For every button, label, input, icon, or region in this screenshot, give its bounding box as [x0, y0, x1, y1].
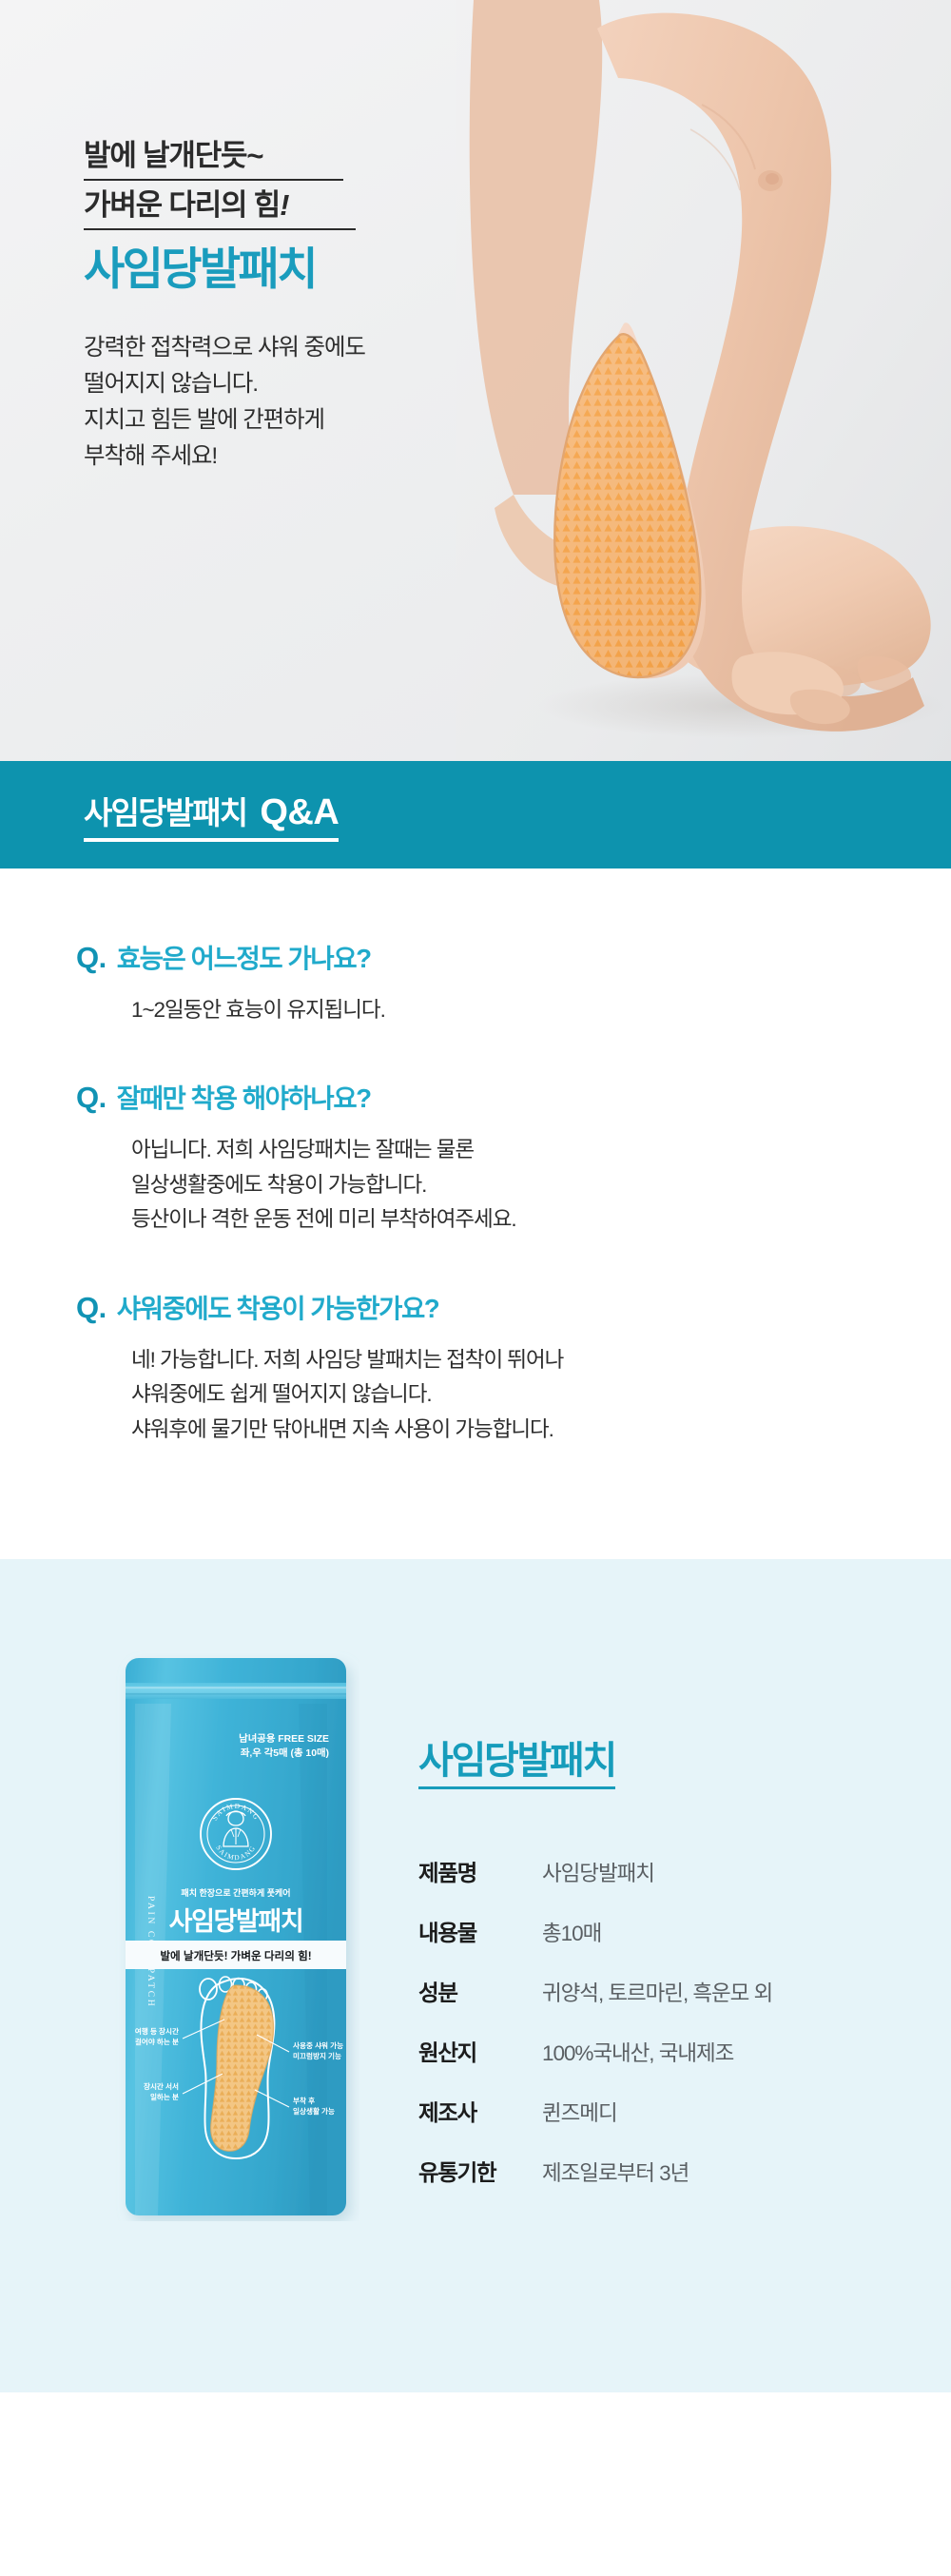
hero-kicker: 발에 날개단듯~ 가벼운 다리의 힘! [84, 141, 365, 230]
svg-text:남녀공용 FREE SIZE: 남녀공용 FREE SIZE [239, 1732, 329, 1745]
svg-text:발에 날개단듯! 가벼운 다리의 힘!: 발에 날개단듯! 가벼운 다리의 힘! [160, 1949, 311, 1962]
product-spec-table: 제품명 사임당발패치 내용물 총10매 성분 귀양석, 토르마린, 흑운모 외 … [418, 1855, 772, 2187]
qa-answer: 아닙니다. 저희 사임당패치는 잘때는 물론 일상생활중에도 착용이 가능합니다… [131, 1133, 951, 1237]
spec-key: 유통기한 [418, 2155, 542, 2187]
spec-value: 100%국내산, 국내제조 [542, 2037, 733, 2067]
hero-kicker-line-1: 발에 날개단듯~ [84, 141, 343, 181]
qa-answer-line: 샤워중에도 쉽게 떨어지지 않습니다. [131, 1377, 951, 1412]
hero-copy: 발에 날개단듯~ 가벼운 다리의 힘! 사임당발패치 강력한 접착력으로 샤워 … [84, 141, 365, 475]
qa-answer-line: 등산이나 격한 운동 전에 미리 부착하여주세요. [131, 1202, 951, 1237]
svg-text:여행 등 장시간: 여행 등 장시간 [135, 2026, 179, 2036]
qa-banner: 사임당발패치 Q&A [0, 761, 951, 868]
spec-key: 원산지 [418, 2035, 542, 2067]
qa-answer-line: 일상생활중에도 착용이 가능합니다. [131, 1168, 951, 1202]
spec-value: 귀양석, 토르마린, 흑운모 외 [542, 1977, 772, 2007]
qa-section: Q. 효능은 어느정도 가나요? 1~2일동안 효능이 유지됩니다. Q. 잘때… [0, 868, 951, 1559]
spec-row: 제품명 사임당발패치 [418, 1855, 772, 1887]
spec-key: 제품명 [418, 1855, 542, 1887]
hero-section: 발에 날개단듯~ 가벼운 다리의 힘! 사임당발패치 강력한 접착력으로 샤워 … [0, 0, 951, 761]
spec-value: 제조일로부터 3년 [542, 2156, 689, 2187]
spec-row: 유통기한 제조일로부터 3년 [418, 2155, 772, 2187]
qa-answer: 네! 가능합니다. 저희 사임당 발패치는 접착이 뛰어나 샤워중에도 쉽게 떨… [131, 1343, 951, 1447]
svg-text:일상생활 가능: 일상생활 가능 [293, 2106, 335, 2116]
hero-kicker-line-2-text: 가벼운 다리의 힘 [84, 188, 280, 222]
qa-question-text: 잘때만 착용 해야하나요? [117, 1077, 371, 1115]
qa-banner-korean-title: 사임당발패치 [84, 788, 246, 833]
svg-text:사용중 샤워 가능: 사용중 샤워 가능 [293, 2040, 343, 2050]
qa-answer-line: 네! 가능합니다. 저희 사임당 발패치는 접착이 뛰어나 [131, 1343, 951, 1377]
svg-text:미끄럼방지 기능: 미끄럼방지 기능 [293, 2051, 341, 2060]
spec-key: 성분 [418, 1975, 542, 2007]
qa-question-row: Q. 샤워중에도 착용이 가능한가요? [76, 1287, 951, 1325]
hero-kicker-exclamation: ! [280, 188, 288, 222]
hero-desc-line-4: 부착해 주세요! [84, 439, 365, 475]
product-detail-page: 발에 날개단듯~ 가벼운 다리의 힘! 사임당발패치 강력한 접착력으로 샤워 … [0, 0, 951, 2392]
qa-banner-english-title: Q&A [260, 792, 339, 833]
spec-row: 성분 귀양석, 토르마린, 흑운모 외 [418, 1975, 772, 2007]
svg-text:걸어야 하는 분: 걸어야 하는 분 [135, 2037, 179, 2046]
qa-question-text: 샤워중에도 착용이 가능한가요? [117, 1287, 439, 1325]
spec-key: 제조사 [418, 2095, 542, 2127]
svg-text:좌,우 각5매 (총 10매): 좌,우 각5매 (총 10매) [241, 1747, 329, 1759]
qa-question-mark-icon: Q. [76, 1291, 107, 1325]
hero-desc-line-3: 지치고 힘든 발에 간편하게 [84, 402, 365, 439]
product-package-image: PAIN COIN PATCH 남녀공용 FREE SIZE 좌,우 각5매 (… [112, 1650, 359, 2221]
qa-question-row: Q. 잘때만 착용 해야하나요? [76, 1077, 951, 1115]
qa-answer: 1~2일동안 효능이 유지됩니다. [131, 993, 951, 1027]
product-info-section: PAIN COIN PATCH 남녀공용 FREE SIZE 좌,우 각5매 (… [0, 1559, 951, 2392]
qa-item: Q. 샤워중에도 착용이 가능한가요? 네! 가능합니다. 저희 사임당 발패치… [0, 1287, 951, 1447]
qa-answer-line: 1~2일동안 효능이 유지됩니다. [131, 993, 951, 1027]
qa-item: Q. 잘때만 착용 해야하나요? 아닙니다. 저희 사임당패치는 잘때는 물론 … [0, 1077, 951, 1237]
svg-text:사임당발패치: 사임당발패치 [169, 1907, 303, 1936]
spec-row: 원산지 100%국내산, 국내제조 [418, 2035, 772, 2067]
svg-text:장시간 서서: 장시간 서서 [144, 2081, 179, 2091]
qa-question-mark-icon: Q. [76, 1081, 107, 1115]
hero-kicker-line-2: 가벼운 다리의 힘! [84, 190, 356, 230]
product-spec-panel: 사임당발패치 제품명 사임당발패치 내용물 총10매 성분 귀양석, 토르마린,… [418, 1650, 772, 2392]
hero-foot-photo [456, 0, 951, 761]
qa-question-row: Q. 효능은 어느정도 가나요? [76, 937, 951, 975]
hero-desc-line-1: 강력한 접착력으로 샤워 중에도 [84, 330, 365, 366]
hero-desc-line-2: 떨어지지 않습니다. [84, 366, 365, 402]
spec-key: 내용물 [418, 1915, 542, 1947]
svg-text:패치 한장으로 간편하게 풋케어: 패치 한장으로 간편하게 풋케어 [181, 1887, 290, 1898]
hero-brand-title: 사임당발패치 [84, 245, 365, 292]
svg-text:부착 후: 부착 후 [293, 2096, 315, 2105]
qa-banner-inner: 사임당발패치 Q&A [84, 788, 339, 842]
spec-row: 내용물 총10매 [418, 1915, 772, 1947]
product-spec-title: 사임당발패치 [418, 1742, 615, 1789]
qa-answer-line: 아닙니다. 저희 사임당패치는 잘때는 물론 [131, 1133, 951, 1167]
qa-question-mark-icon: Q. [76, 941, 107, 975]
spec-value: 사임당발패치 [542, 1857, 654, 1887]
spec-value: 퀸즈메디 [542, 2097, 617, 2127]
spec-row: 제조사 퀸즈메디 [418, 2095, 772, 2127]
hero-description: 강력한 접착력으로 샤워 중에도 떨어지지 않습니다. 지치고 힘든 발에 간편… [84, 330, 365, 475]
spec-value: 총10매 [542, 1917, 601, 1947]
qa-question-text: 효능은 어느정도 가나요? [117, 937, 371, 975]
qa-answer-line: 샤워후에 물기만 닦아내면 지속 사용이 가능합니다. [131, 1413, 951, 1447]
svg-text:일하는 분: 일하는 분 [150, 2092, 179, 2101]
qa-item: Q. 효능은 어느정도 가나요? 1~2일동안 효능이 유지됩니다. [0, 937, 951, 1027]
